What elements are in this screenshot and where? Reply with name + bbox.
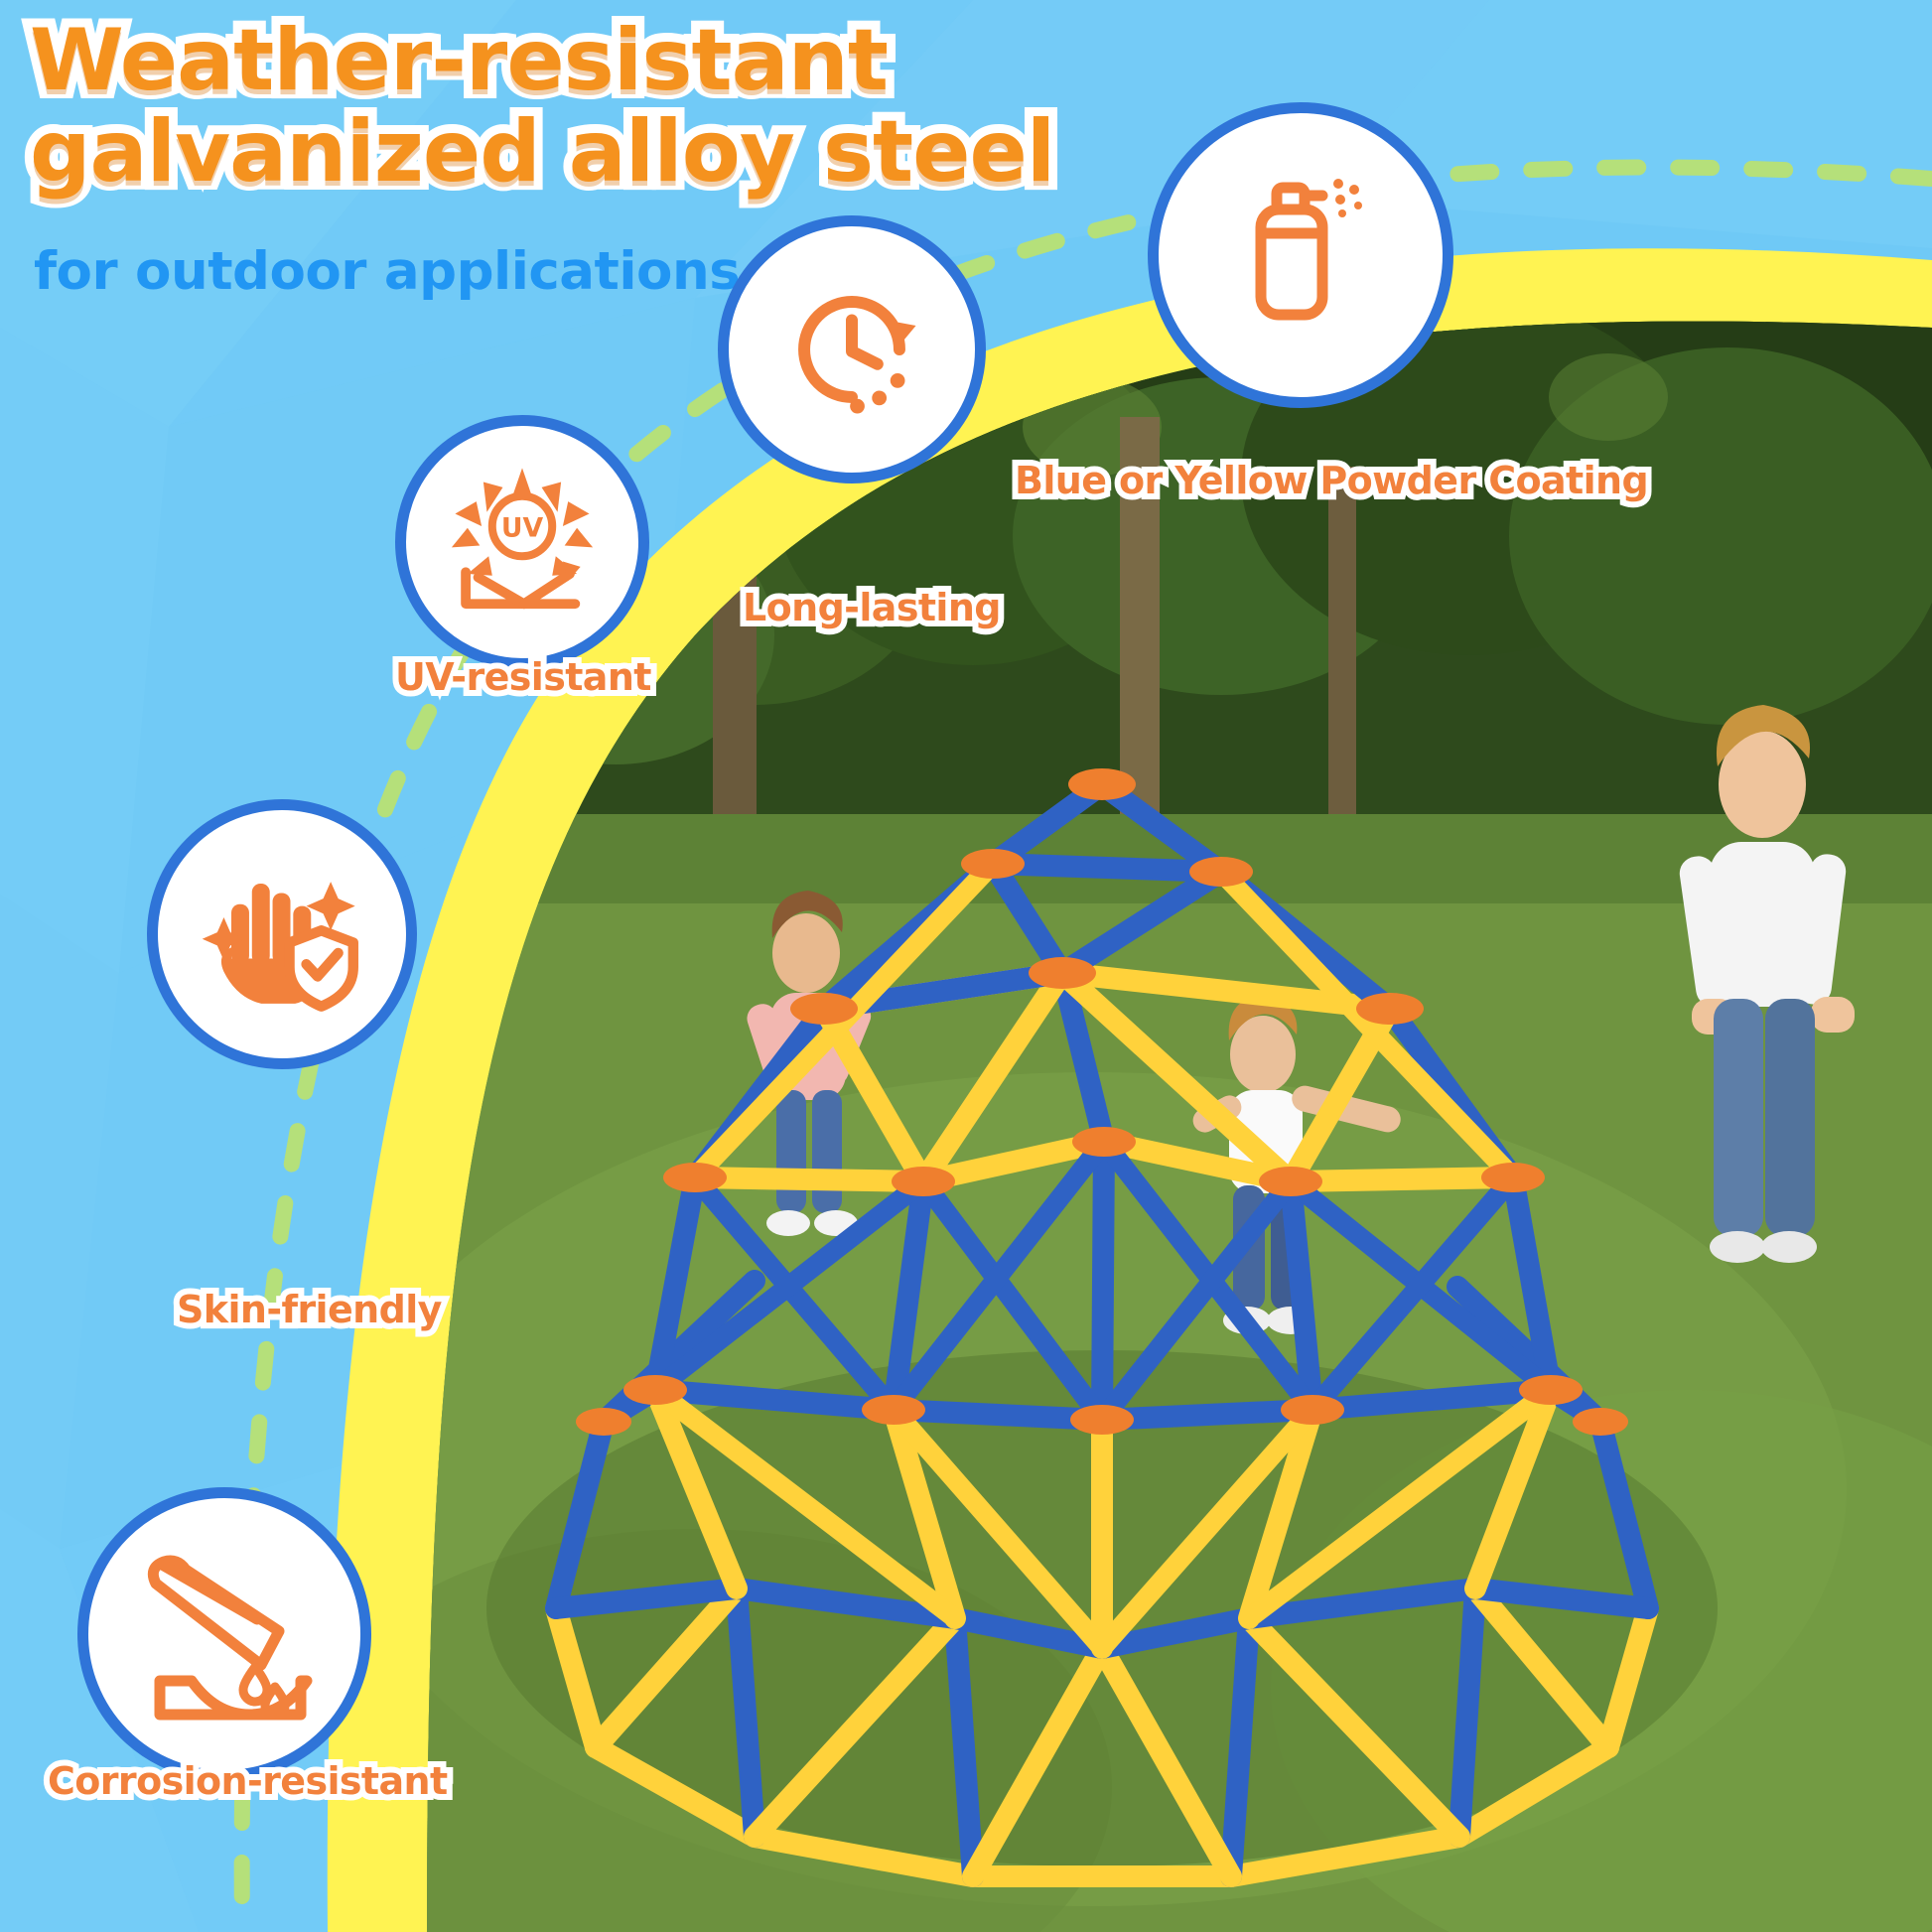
svg-text:UV: UV [501, 513, 544, 544]
beaker-drip-icon [130, 1540, 319, 1728]
page-title: Weather-resistant galvanized alloy steel [30, 18, 1201, 196]
product-marketing-image: Weather-resistant galvanized alloy steel… [0, 0, 1932, 1932]
badge-label-long-lasting: Long-lasting [743, 586, 1001, 629]
spray-can-icon [1211, 166, 1390, 345]
hand-shield-check-icon [198, 850, 366, 1019]
uv-sun-deflect-icon: UV [443, 463, 602, 621]
badge-ring [718, 215, 986, 483]
badge-ring [77, 1487, 371, 1781]
clock-arrow-icon [769, 267, 934, 432]
badge-ring [1148, 102, 1453, 408]
page-subtitle: for outdoor applications [34, 241, 740, 302]
badge-label-powder-coating: Blue or Yellow Powder Coating [1015, 459, 1648, 502]
headline-line-1: Weather-resistant [30, 18, 1201, 105]
headline-line-2: galvanized alloy steel [30, 109, 1201, 197]
badge-label-uv-resistant: UV-resistant [395, 655, 651, 699]
badge-label-skin-friendly: Skin-friendly [177, 1288, 442, 1331]
badge-label-corrosion-resistant: Corrosion-resistant [48, 1759, 448, 1803]
badge-ring: UV [395, 415, 649, 669]
badge-ring [147, 799, 417, 1069]
